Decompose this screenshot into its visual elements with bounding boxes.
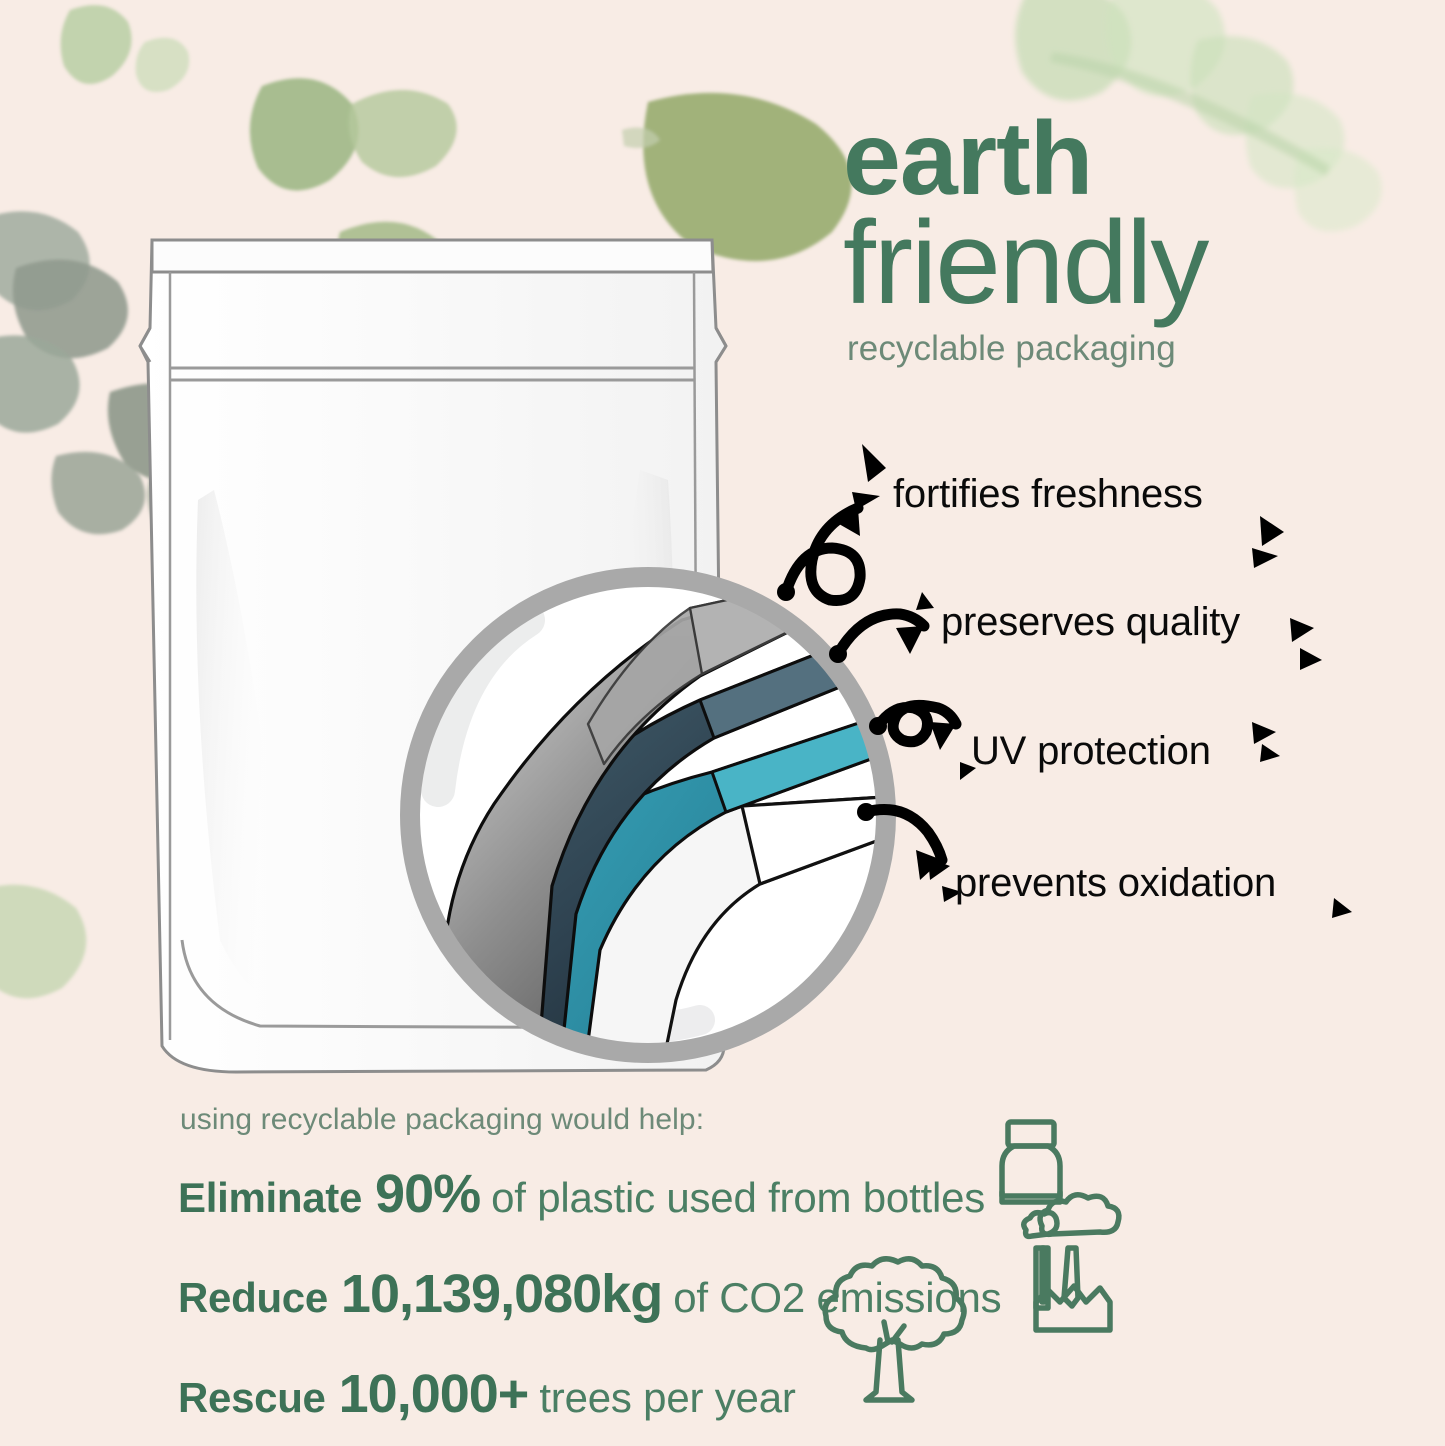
earth-friendly-infographic: earth friendly recyclable packaging fort… [0, 0, 1445, 1446]
bottle-icon [1002, 1122, 1060, 1202]
stat-icons [0, 0, 1445, 1446]
tree-icon [825, 1259, 964, 1400]
factory-icon [1024, 1195, 1119, 1330]
